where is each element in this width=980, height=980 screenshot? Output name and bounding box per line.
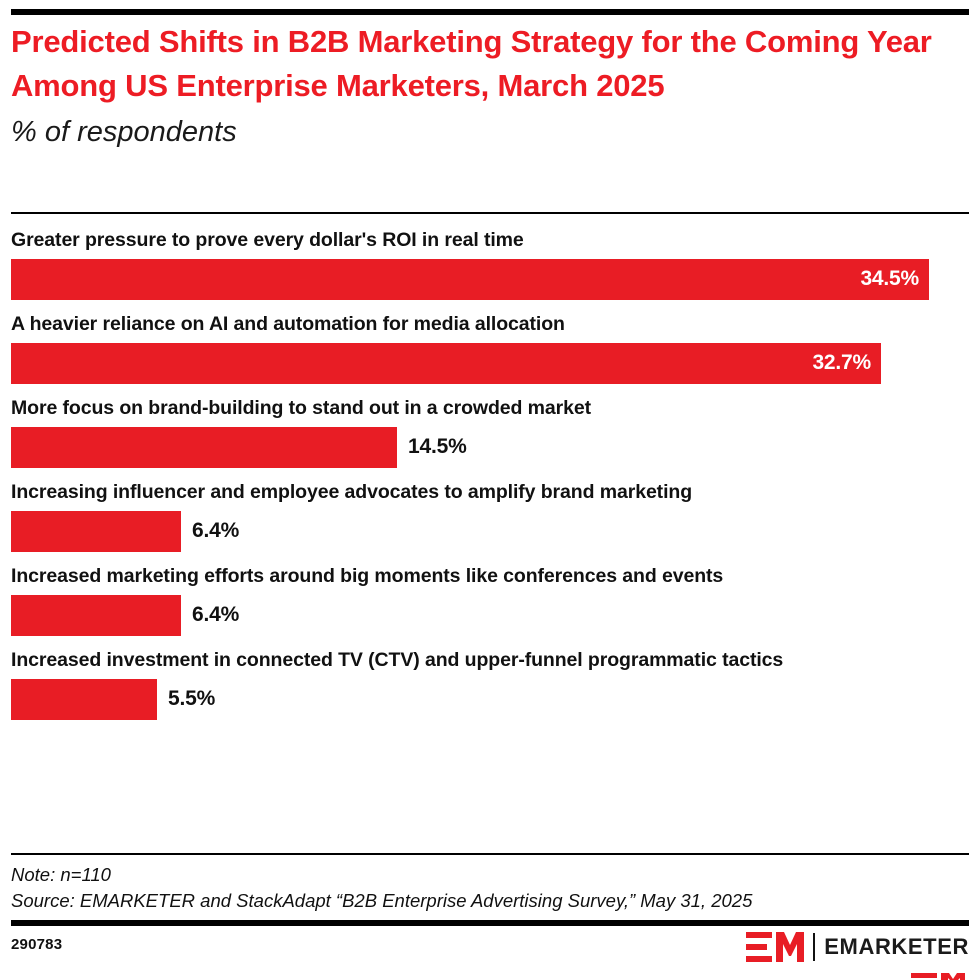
bar[interactable]	[11, 679, 157, 720]
bar-category-label: More focus on brand-building to stand ou…	[11, 396, 969, 422]
bar-group: Increased investment in connected TV (CT…	[11, 648, 969, 720]
header-divider-rule	[11, 212, 969, 214]
em-monogram-icon	[746, 932, 804, 962]
bar-category-label: Increased investment in connected TV (CT…	[11, 648, 969, 674]
chart-id: 290783	[11, 936, 62, 953]
chart-footnotes: Note: n=110 Source: EMARKETER and StackA…	[11, 862, 969, 913]
bar-group: A heavier reliance on AI and automation …	[11, 312, 969, 384]
bar-category-label: Increasing influencer and employee advoc…	[11, 480, 969, 506]
bar-row: 6.4%	[11, 595, 969, 636]
bar-row: 14.5%	[11, 427, 969, 468]
bar-value-label: 6.4%	[192, 603, 239, 627]
bar-group: More focus on brand-building to stand ou…	[11, 396, 969, 468]
bar[interactable]	[11, 343, 881, 384]
bar-category-label: Greater pressure to prove every dollar's…	[11, 228, 969, 254]
source-text: Source: EMARKETER and StackAdapt “B2B En…	[11, 888, 969, 914]
bar-group: Greater pressure to prove every dollar's…	[11, 228, 969, 300]
emarketer-logo-partial	[911, 970, 969, 980]
bar-value-label: 6.4%	[192, 519, 239, 543]
brand-wordmark: EMARKETER	[824, 934, 969, 960]
bar-row: 34.5%	[11, 259, 969, 300]
chart-subtitle: % of respondents	[11, 114, 969, 150]
top-rule	[11, 9, 969, 15]
note-text: Note: n=110	[11, 862, 969, 888]
bar-value-label: 32.7%	[812, 351, 871, 375]
bar[interactable]	[11, 595, 181, 636]
chart-header: Predicted Shifts in B2B Marketing Strate…	[11, 20, 969, 150]
chart-footer: 290783 EMARKETER	[11, 934, 969, 974]
footer-rule	[11, 920, 969, 926]
logo-divider	[813, 933, 815, 961]
bar-value-label: 34.5%	[860, 267, 919, 291]
bar-row: 5.5%	[11, 679, 969, 720]
emarketer-logo[interactable]: EMARKETER	[746, 932, 969, 962]
bar[interactable]	[11, 511, 181, 552]
bar[interactable]	[11, 259, 929, 300]
bar-row: 32.7%	[11, 343, 969, 384]
bar-category-label: A heavier reliance on AI and automation …	[11, 312, 969, 338]
bar-group: Increasing influencer and employee advoc…	[11, 480, 969, 552]
chart-container: Predicted Shifts in B2B Marketing Strate…	[0, 0, 980, 980]
bar[interactable]	[11, 427, 397, 468]
bar-chart-plot: Greater pressure to prove every dollar's…	[11, 228, 969, 732]
footnote-divider-rule	[11, 853, 969, 855]
bar-category-label: Increased marketing efforts around big m…	[11, 564, 969, 590]
bar-value-label: 14.5%	[408, 435, 467, 459]
bar-group: Increased marketing efforts around big m…	[11, 564, 969, 636]
chart-title: Predicted Shifts in B2B Marketing Strate…	[11, 20, 969, 108]
bar-value-label: 5.5%	[168, 687, 215, 711]
bar-row: 6.4%	[11, 511, 969, 552]
